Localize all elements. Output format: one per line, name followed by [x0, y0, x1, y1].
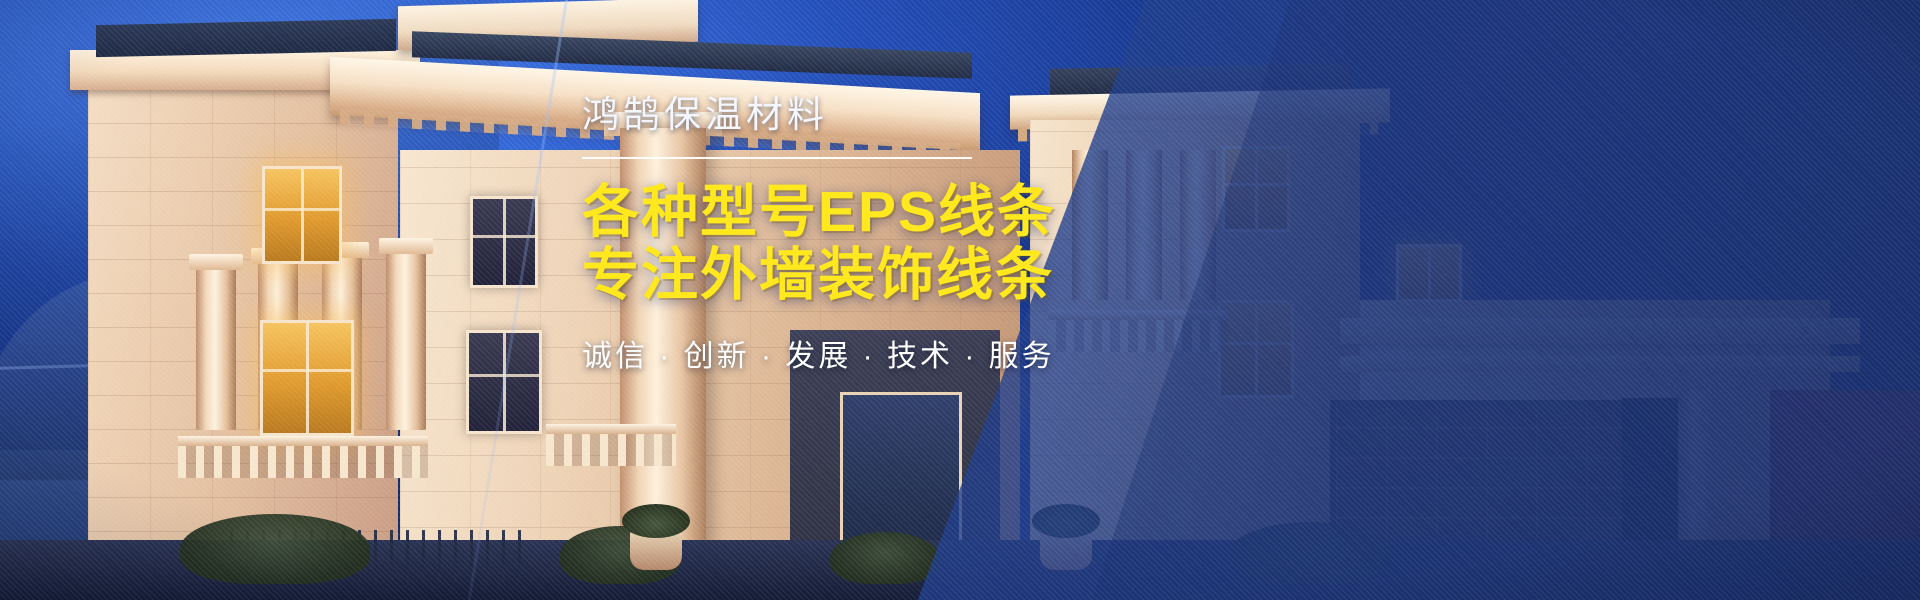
balustrade-rail	[546, 424, 676, 434]
shrub	[830, 532, 940, 584]
divider-rule	[582, 157, 972, 159]
brand-name: 鸿鹄保温材料	[582, 96, 1342, 133]
window-mullion	[503, 199, 506, 285]
shrub	[180, 514, 370, 584]
portico-column	[386, 252, 426, 430]
window-transom	[263, 369, 351, 372]
tagline: 诚信 · 创新 · 发展 · 技术 · 服务	[582, 342, 1342, 372]
portico-column-capital	[379, 238, 433, 254]
banner-copy: 鸿鹄保温材料 各种型号EPS线条 专注外墙装饰线条 诚信 · 创新 · 发展 ·…	[582, 96, 1342, 372]
headline-line-1: 各种型号EPS线条	[582, 180, 1056, 244]
window-lit	[262, 166, 342, 264]
balustrade-posts	[546, 434, 676, 466]
balustrade-posts	[178, 446, 428, 478]
planter-pot	[630, 530, 682, 570]
window-mullion	[301, 169, 304, 261]
headline-line-2: 专注外墙装饰线条	[582, 244, 1342, 307]
window-lit	[260, 320, 354, 436]
portico-column-capital	[189, 254, 243, 270]
hero-banner: 鸿鹄保温材料 各种型号EPS线条 专注外墙装饰线条 诚信 · 创新 · 发展 ·…	[0, 0, 1920, 600]
headline: 各种型号EPS线条 专注外墙装饰线条	[582, 181, 1342, 306]
portico-column	[196, 268, 236, 430]
balustrade-rail	[178, 436, 428, 446]
window-transom	[265, 208, 339, 211]
left-wing-roof	[96, 19, 396, 57]
window-mullion	[306, 323, 309, 433]
